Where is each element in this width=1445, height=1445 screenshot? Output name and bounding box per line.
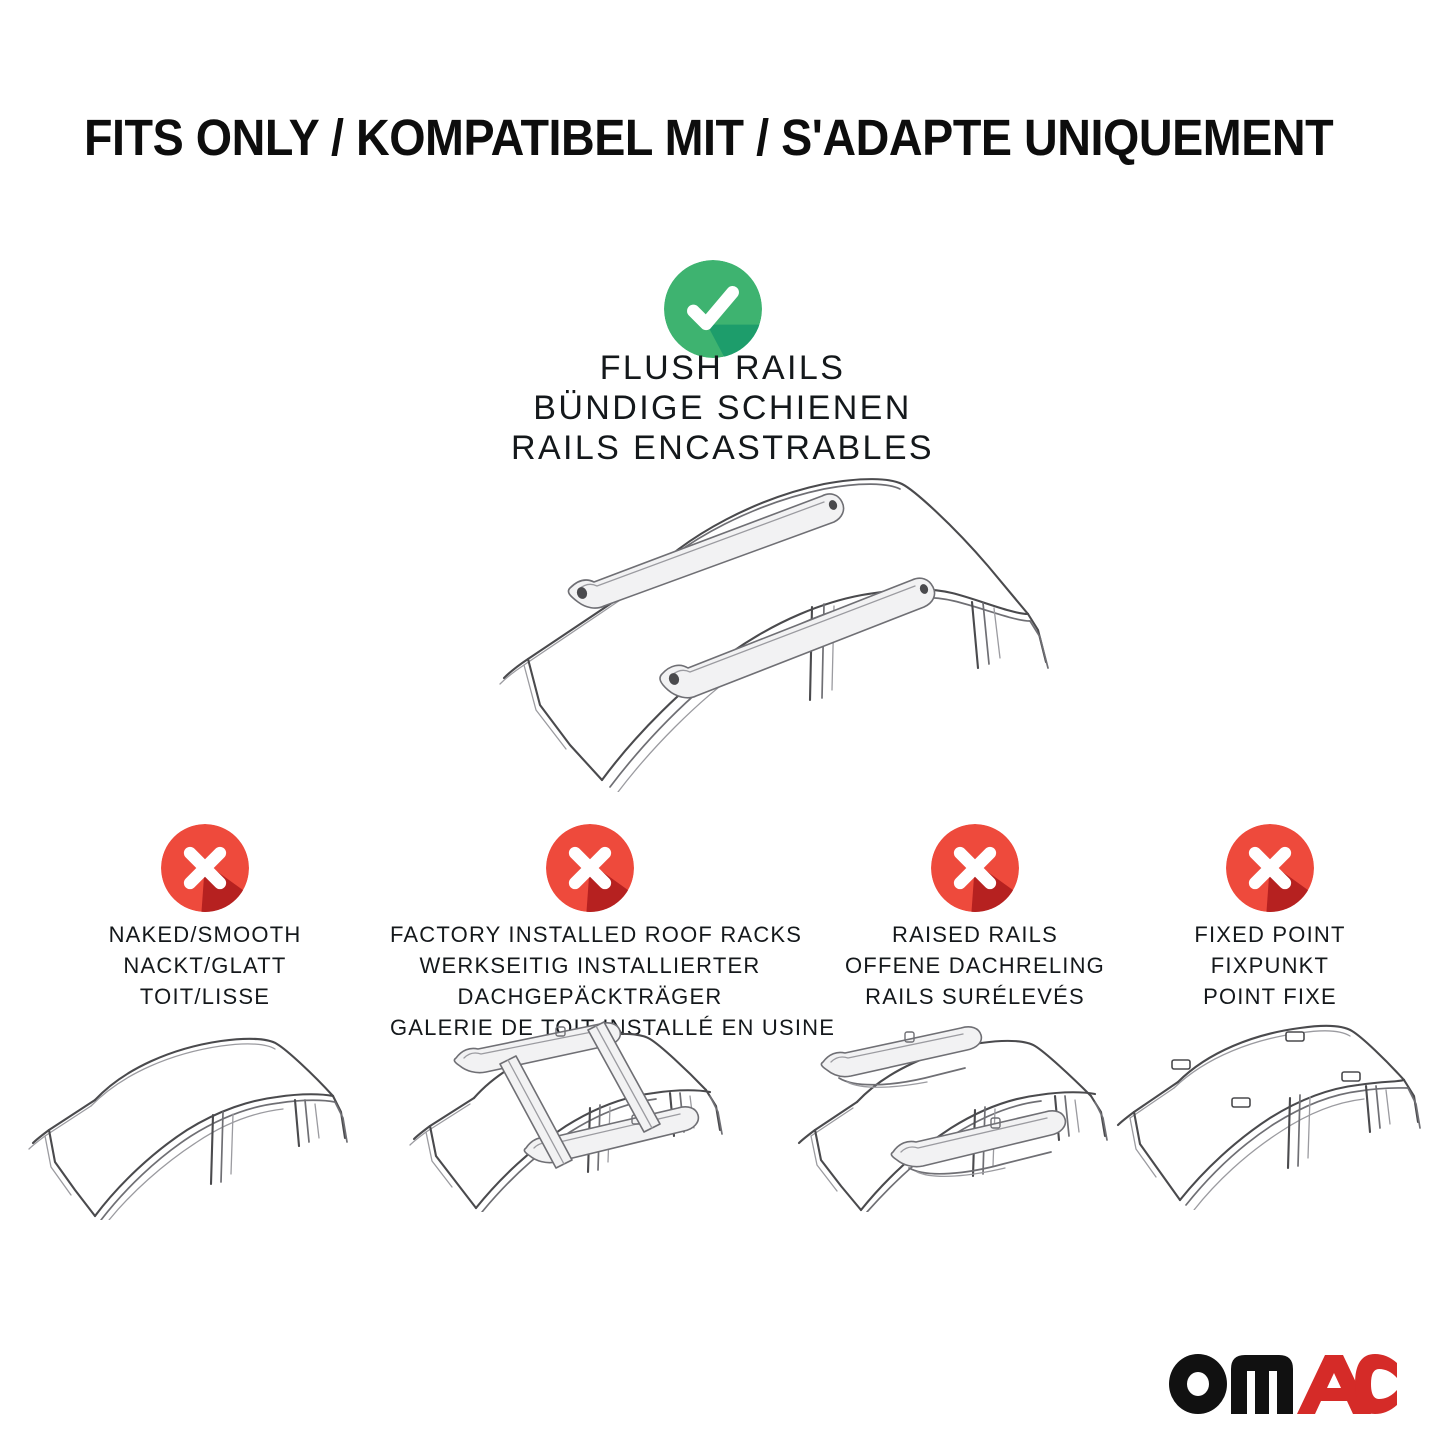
option-label-line-3: TOIT/LISSE [25, 981, 385, 1012]
compatible-label: FLUSH RAILS BÜNDIGE SCHIENEN RAILS ENCAS… [0, 348, 1445, 468]
page-title: FITS ONLY / KOMPATIBEL MIT / S'ADAPTE UN… [84, 108, 1264, 168]
compatible-label-line-1: FLUSH RAILS [0, 348, 1445, 388]
omac-logo [1165, 1353, 1397, 1415]
compatibility-infographic: FITS ONLY / KOMPATIBEL MIT / S'ADAPTE UN… [0, 0, 1445, 1445]
option-label-line-3: POINT FIXE [1125, 981, 1415, 1012]
option-label-line-2: WERKSEITIG INSTALLIERTER [390, 950, 790, 981]
cross-circle-icon [931, 824, 1019, 912]
car-roof-with-flush-rails-illustration [432, 462, 1072, 792]
cross-circle-icon [161, 824, 249, 912]
car-roof-factory-roof-racks-illustration [404, 1000, 776, 1212]
check-circle-icon [664, 260, 762, 358]
car-roof-raised-rails-illustration [795, 1006, 1155, 1212]
cross-circle-icon [1226, 824, 1314, 912]
compatible-label-line-2: BÜNDIGE SCHIENEN [0, 388, 1445, 428]
option-label-line-2: FIXPUNKT [1125, 950, 1415, 981]
car-roof-naked-smooth-illustration [25, 1020, 385, 1220]
option-label: RAISED RAILS OFFENE DACHRELING RAILS SUR… [800, 919, 1150, 1012]
option-label-line-1: NAKED/SMOOTH [25, 919, 385, 950]
option-label-line-2: NACKT/GLATT [25, 950, 385, 981]
option-label-line-2: OFFENE DACHRELING [800, 950, 1150, 981]
cross-circle-icon [546, 824, 634, 912]
car-roof-fixed-point-illustration [1110, 1010, 1430, 1210]
option-label: NAKED/SMOOTH NACKT/GLATT TOIT/LISSE [25, 919, 385, 1012]
option-label-line-1: RAISED RAILS [800, 919, 1150, 950]
option-label-line-1: FIXED POINT [1125, 919, 1415, 950]
option-label-line-1: FACTORY INSTALLED ROOF RACKS [390, 919, 790, 950]
option-label: FIXED POINT FIXPUNKT POINT FIXE [1125, 919, 1415, 1012]
